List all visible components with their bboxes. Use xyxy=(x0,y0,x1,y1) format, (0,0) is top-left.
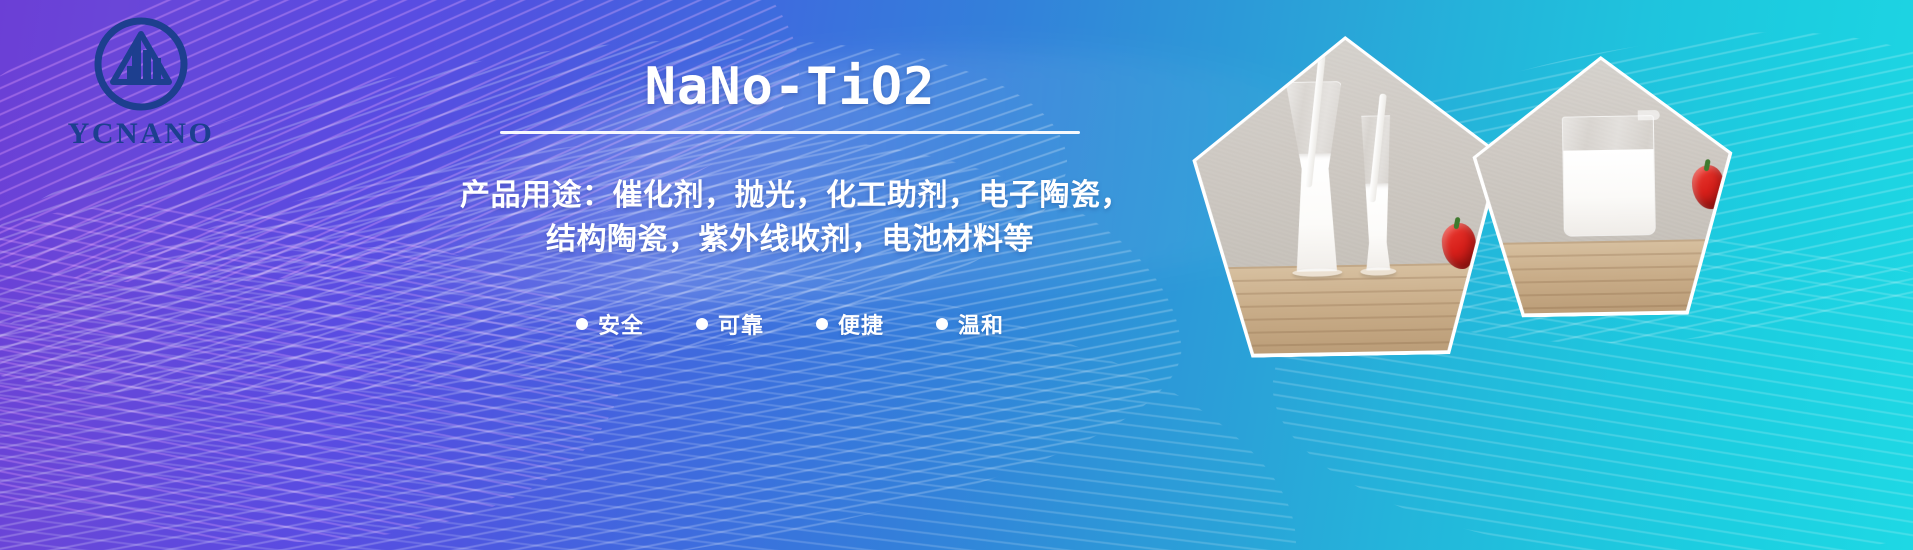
product-photo-white-liquid-beaker xyxy=(1471,54,1735,318)
bullet-dot-icon xyxy=(816,318,828,330)
bullet-dot-icon xyxy=(696,318,708,330)
product-banner: YCNANO NaNo-TiO2 产品用途：催化剂，抛光，化工助剂，电子陶瓷， … xyxy=(0,0,1913,550)
feature-label: 便捷 xyxy=(838,308,884,340)
product-usage-line-1: 产品用途：催化剂，抛光，化工助剂，电子陶瓷， xyxy=(460,174,1110,218)
feature-item-mild: 温和 xyxy=(936,308,1004,340)
feature-item-safe: 安全 xyxy=(576,308,644,340)
photo-frame-inner xyxy=(1475,58,1731,314)
photo-frame-inner xyxy=(1194,37,1501,354)
feature-item-reliable: 可靠 xyxy=(696,308,764,340)
banner-content: NaNo-TiO2 产品用途：催化剂，抛光，化工助剂，电子陶瓷， 结构陶瓷，紫外… xyxy=(470,60,1110,340)
bullet-dot-icon xyxy=(936,318,948,330)
glass-vase-cone xyxy=(1356,115,1399,271)
product-photo-white-powder-vases xyxy=(1190,33,1506,358)
photo-wooden-table xyxy=(1198,262,1501,355)
vase-white-powder-fill xyxy=(1288,153,1344,270)
feature-label: 可靠 xyxy=(718,308,764,340)
product-usage-line-2: 结构陶瓷，紫外线收剂，电池材料等 xyxy=(470,218,1110,262)
title-divider xyxy=(500,131,1080,134)
product-photo-group xyxy=(1153,0,1913,550)
brand-logo[interactable]: YCNANO xyxy=(46,14,236,159)
ycnano-mountain-circle-logo-icon xyxy=(91,14,191,114)
feature-label: 温和 xyxy=(958,308,1004,340)
brand-wordmark: YCNANO xyxy=(46,117,236,151)
glass-vase-tall xyxy=(1286,81,1345,272)
feature-label: 安全 xyxy=(598,308,644,340)
bullet-dot-icon xyxy=(576,318,588,330)
beaker-spout xyxy=(1637,110,1659,120)
photo-wooden-table xyxy=(1478,239,1731,314)
beaker-glass-body xyxy=(1561,116,1655,238)
product-usage-text: 产品用途：催化剂，抛光，化工助剂，电子陶瓷， 结构陶瓷，紫外线收剂，电池材料等 xyxy=(470,174,1110,263)
glass-beaker xyxy=(1561,116,1655,238)
feature-item-convenient: 便捷 xyxy=(816,308,884,340)
feature-list: 安全 可靠 便捷 温和 xyxy=(470,308,1110,340)
page-title: NaNo-TiO2 xyxy=(470,60,1110,115)
vase-white-powder-fill xyxy=(1358,183,1397,269)
beaker-white-liquid-fill xyxy=(1563,150,1654,237)
